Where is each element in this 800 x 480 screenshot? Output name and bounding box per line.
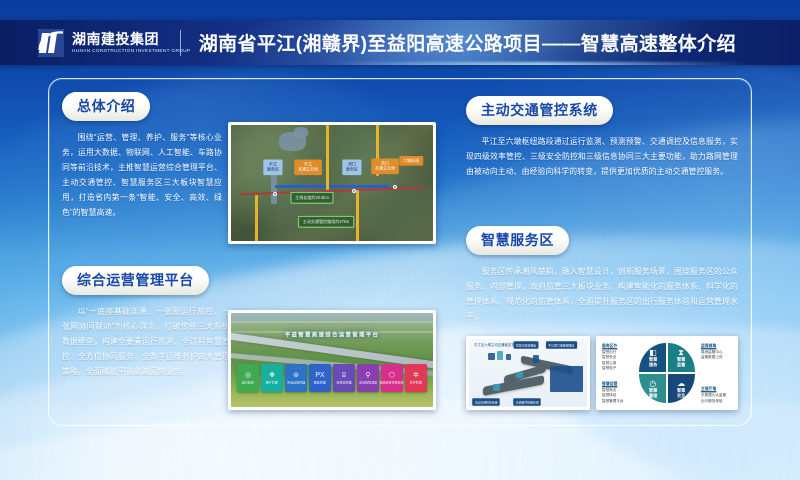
quadrant-left-bottom-item: 智慧管理平台 [602, 398, 641, 405]
radar-icon: ◎ [245, 372, 251, 379]
section-heading-overview: 总体介绍 [62, 92, 150, 121]
iso-tag: 主动交通管控系统 [472, 398, 500, 406]
road-main-route [275, 185, 388, 188]
iso-block [488, 353, 495, 360]
dashboard-tile[interactable]: ⚲应急指挥调度 [357, 364, 379, 392]
iso-title: 平江至六墩主动交通管控平台 [474, 342, 518, 347]
quadrant-cell[interactable]: ☁智慧 交互 [668, 374, 695, 403]
snowflake-icon: ✲ [413, 372, 419, 379]
poster-canvas: 湖南建投集团 HUNAN CONSTRUCTION INVESTMENT GRO… [0, 0, 800, 480]
iso-tag: 交通事件智能检测 [513, 398, 541, 406]
satellite-route-map: 平江服务区平江互通立交桥浯口服务区浯口互通立交桥六墩枢纽主线长度约32.6km主… [228, 122, 436, 244]
quadrant-left-top-item: 智慧电子 [602, 365, 641, 372]
dashboard-tile[interactable]: ⌸收费站管理 [333, 364, 355, 392]
map-label: 主线长度约32.6km [290, 192, 333, 204]
section-service: 智慧服务区 服务区传承湘风楚韵，融入智慧设计，创新服务场景，围绕服务区的公众服务… [466, 226, 738, 325]
quadrant-left-labels: 服务区外 智慧出行智慧安全智慧公用智慧电子 智慧运营 智慧商业智慧场站智慧管理平… [599, 339, 636, 407]
logo-chinese-name: 湖南建投集团 [72, 32, 162, 47]
quadrant-cell[interactable]: ◷智慧 管理 [639, 374, 666, 403]
iso-legend-panel [550, 366, 583, 392]
quadrant-core-cells: ◧智慧 服务⧗智慧 监管◷智慧 管理☁智慧 交互 [636, 339, 699, 407]
quadrant-right-top-group: 监管部角 属地监管中心监管数据上传 [701, 343, 718, 360]
quadrant-cell[interactable]: ◧智慧 服务 [639, 343, 666, 372]
dashboard-tile[interactable]: ◎运行监测 [237, 364, 259, 392]
pin-icon: ⚲ [365, 372, 370, 379]
section-platform: 综合运营管理平台 以“一底座基础连通、一张图运行监控、一张网协同联动”为核心理念… [62, 266, 230, 380]
service-icon: ◧ [649, 349, 657, 357]
dashboard-tile[interactable]: ⬡隧道综合管控系统 [381, 364, 403, 392]
isometric-illustration: 平江至六墩主动交通管控平台 主动交通管控系统 交通事件智能检测 智慧可变情报板 … [469, 339, 587, 407]
iso-block [497, 351, 503, 360]
map-label: 平江互通立交桥 [294, 159, 322, 174]
map-label: 六墩枢纽 [399, 156, 422, 166]
dashboard-tile[interactable]: PX路政管理 [309, 364, 331, 392]
quadrant-left-bottom-heading: 智慧运营 [602, 381, 641, 386]
iso-tag: 智慧可变情报板 [514, 342, 539, 350]
operations-platform-dashboard: 平益智慧高速综合运营管理平台 ◎运行监测✥路产管理⊜机电设施管理PX路政管理⌸收… [228, 310, 436, 410]
supervision-icon: ⧗ [678, 349, 684, 357]
section-traffic: 主动交通管控系统 平江至六墩枢纽路段通过运行监测、预测预警、交通调控及信息服务，… [466, 96, 738, 180]
satellite-imagery: 平江服务区平江互通立交桥浯口服务区浯口互通立交桥六墩枢纽主线长度约32.6km主… [231, 125, 433, 241]
map-label: 浯口互通立交桥 [371, 158, 399, 173]
iso-tag: 平江至六墩枢纽路段 [546, 342, 577, 350]
section-body-service: 服务区传承湘风楚韵，融入智慧设计，创新服务场景，围绕服务区的公众服务、内部管理、… [466, 265, 738, 325]
px-icon: PX [315, 372, 324, 379]
section-overview: 总体介绍 围绕“运营、管理、养护、服务”等核心业务，运用大数据、物联网、人工智能… [62, 92, 222, 221]
dashboard-tile-label: 路产管理 [266, 379, 278, 384]
dashboard-tile-label: 应急指挥调度 [359, 379, 377, 384]
quadrant-cell-label: 智慧 管理 [649, 387, 657, 398]
dashboard-tile-label: 运行监测 [242, 379, 254, 384]
gear-icon: ⊜ [293, 372, 299, 379]
header-bar: 湖南建投集团 HUNAN CONSTRUCTION INVESTMENT GRO… [0, 20, 800, 65]
dashboard-tile-label: 收费站管理 [337, 379, 352, 384]
road-yellow-3 [255, 195, 258, 241]
quadrant-left-top-group: 服务区外 智慧出行智慧安全智慧公用智慧电子 [602, 343, 633, 370]
iso-block [506, 354, 512, 360]
map-label: 主动交通管控路段约27km [298, 216, 354, 228]
section-heading-platform: 综合运营管理平台 [62, 266, 209, 295]
logo-english-name: HUNAN CONSTRUCTION INVESTMENT GROUP [72, 48, 190, 55]
section-heading-traffic: 主动交通管控系统 [466, 96, 613, 125]
quadrant-left-bottom-group: 智慧运营 智慧商业智慧场站智慧管理平台 [602, 381, 633, 403]
dashboard-tile-label: 机电设施管理 [287, 379, 305, 384]
iso-block [493, 384, 500, 391]
dashboard-tile-label: 养护管理 [410, 379, 422, 384]
iso-block [533, 355, 539, 363]
quadrant-cell-label: 智慧 交互 [677, 387, 685, 398]
quadrant-right-bottom-group: 主管厅角 长株潭九大监管出行服务体验 [701, 386, 721, 403]
dashboard-tile-row: ◎运行监测✥路产管理⊜机电设施管理PX路政管理⌸收费站管理⚲应急指挥调度⬡隧道综… [237, 364, 427, 392]
iso-block [516, 372, 523, 379]
active-traffic-control-diagram: 平江至六墩主动交通管控平台 主动交通管控系统 交通事件智能检测 智慧可变情报板 … [466, 336, 590, 410]
page-title: 湖南省平江(湘赣界)至益阳高速公路项目——智慧高速整体介绍 [199, 29, 736, 56]
quadrant-right-bottom-item: 出行服务体验 [701, 398, 726, 405]
section-heading-service: 智慧服务区 [466, 226, 569, 255]
dashboard-tile[interactable]: ⊜机电设施管理 [285, 364, 307, 392]
quadrant-cell-label: 智慧 服务 [649, 356, 657, 367]
quadrant-right-bottom-heading: 主管厅角 [701, 386, 726, 391]
dashboard-tile[interactable]: ✥路产管理 [261, 364, 283, 392]
aerial-photo-background: 平益智慧高速综合运营管理平台 ◎运行监测✥路产管理⊜机电设施管理PX路政管理⌸收… [231, 313, 433, 407]
quadrant-cell-label: 智慧 监管 [677, 356, 685, 367]
dashboard-tile[interactable]: ✲养护管理 [405, 364, 427, 392]
dashboard-tile-label: 路政管理 [314, 379, 326, 384]
quadrant-right-top-item: 监管数据上传 [701, 354, 723, 361]
company-emblem-icon [38, 29, 64, 57]
management-icon: ◷ [649, 380, 656, 388]
quadrant-chart: 服务区外 智慧出行智慧安全智慧公用智慧电子 智慧运营 智慧商业智慧场站智慧管理平… [599, 339, 735, 407]
user-card-icon: ⌸ [342, 372, 346, 379]
cloud-icon: ☁ [677, 380, 685, 388]
map-label: 浯口服务区 [342, 159, 361, 174]
road-yellow-4 [356, 190, 359, 241]
road-yellow-1 [326, 125, 329, 190]
shield-icon: ⬡ [389, 372, 395, 379]
section-body-platform: 以“一底座基础连通、一张图运行监控、一张网协同联动”为核心理念，打破传统三大系统… [62, 305, 230, 380]
dashboard-title: 平益智慧高速综合运营管理平台 [231, 331, 433, 339]
map-node [393, 185, 397, 189]
map-node [352, 189, 356, 193]
quadrant-right-labels: 监管部角 属地监管中心监管数据上传 主管厅角 长株潭九大监管出行服务体验 [698, 339, 735, 407]
dashboard-tile-label: 隧道综合管控系统 [380, 379, 404, 384]
smart-service-area-quadrants: 服务区外 智慧出行智慧安全智慧公用智慧电子 智慧运营 智慧商业智慧场站智慧管理平… [596, 336, 738, 410]
water-body [294, 127, 308, 137]
map-label: 平江服务区 [264, 159, 283, 174]
section-body-traffic: 平江至六墩枢纽路段通过运行监测、预测预警、交通调控及信息服务，实现四级效率管控、… [466, 135, 738, 180]
quadrant-right-top-heading: 监管部角 [701, 343, 723, 348]
grid-icon: ✥ [269, 372, 275, 379]
quadrant-left-top-heading: 服务区外 [602, 343, 641, 348]
quadrant-cell[interactable]: ⧗智慧 监管 [668, 343, 695, 372]
section-body-overview: 围绕“运营、管理、养护、服务”等核心业务，运用大数据、物联网、人工智能、车路协同… [62, 131, 222, 221]
